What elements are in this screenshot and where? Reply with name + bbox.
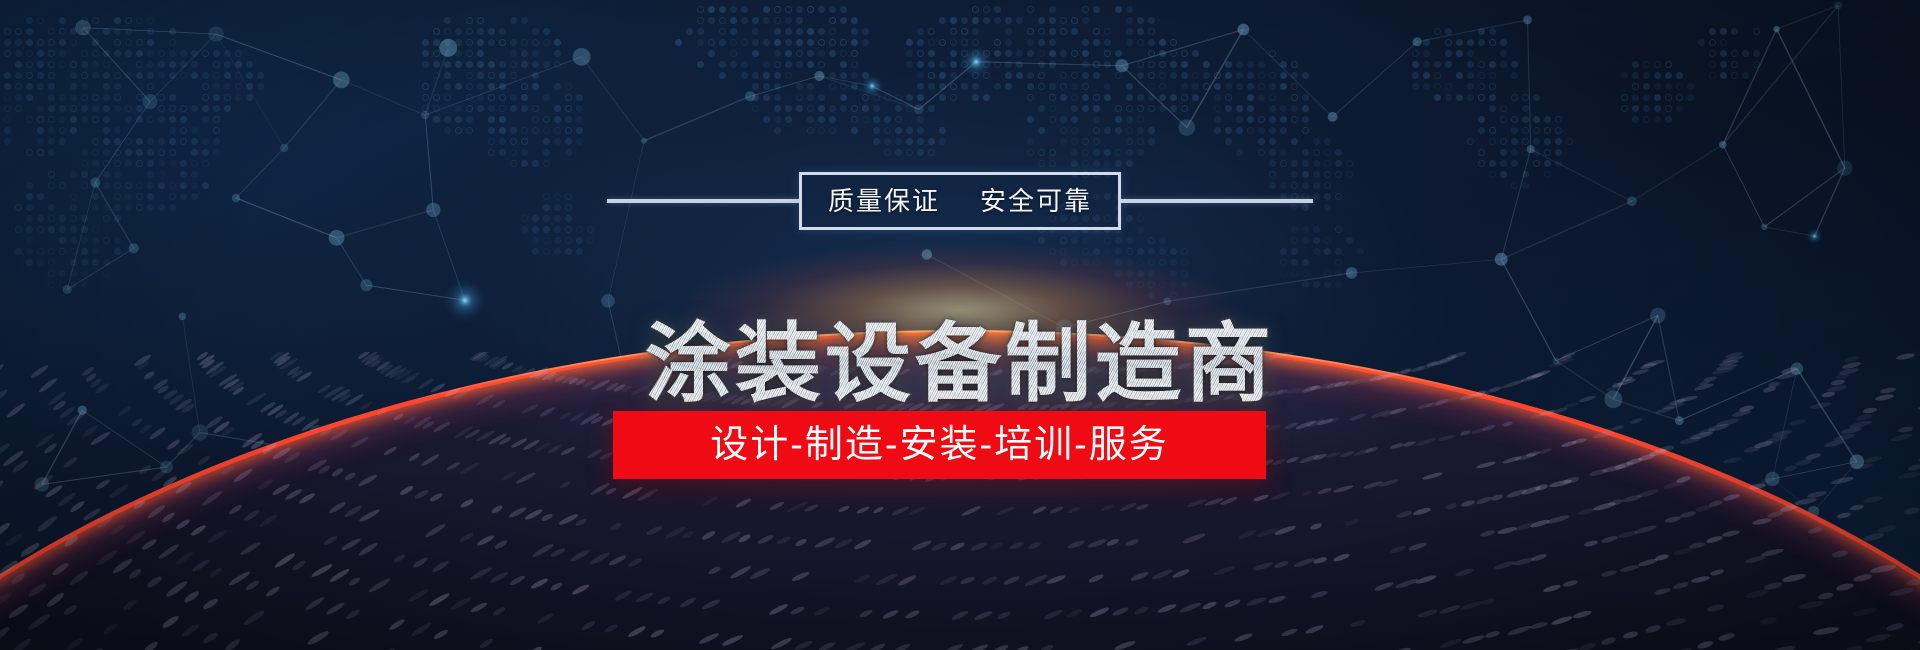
tagline-bar: 设计-制造-安装-培训-服务 bbox=[613, 411, 1266, 479]
headline: 涂装设备制造商 bbox=[0, 316, 1920, 412]
badge-item-2: 安全可靠 bbox=[980, 188, 1092, 214]
strap-rule-left bbox=[607, 199, 799, 203]
banner-content: 质量保证 安全可靠 涂装设备制造商 涂装设备制造商 设计-制造-安装-培训-服务 bbox=[0, 0, 1920, 650]
hero-banner: 质量保证 安全可靠 涂装设备制造商 涂装设备制造商 设计-制造-安装-培训-服务 bbox=[0, 0, 1920, 650]
badge-item-1: 质量保证 bbox=[828, 188, 940, 214]
strap-rule-right bbox=[1121, 199, 1313, 203]
badge-strap: 质量保证 安全可靠 bbox=[0, 172, 1920, 230]
tagline-text: 设计-制造-安装-培训-服务 bbox=[710, 426, 1169, 464]
badge-box: 质量保证 安全可靠 bbox=[799, 172, 1121, 230]
